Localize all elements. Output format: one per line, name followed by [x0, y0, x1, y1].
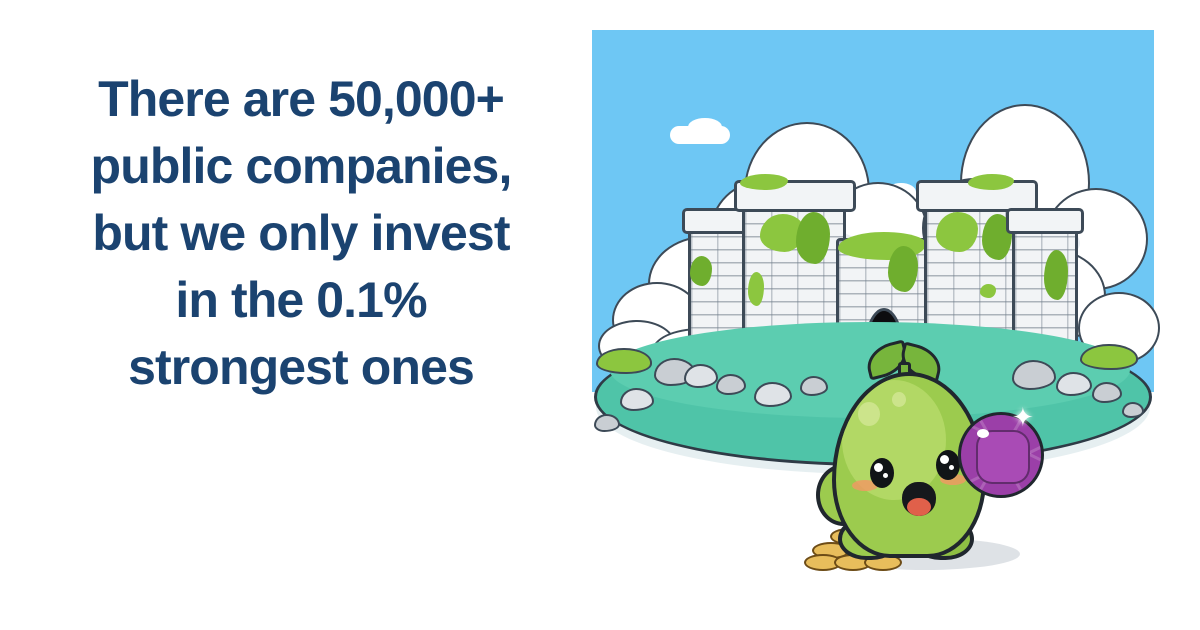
body-spot-2 [892, 392, 906, 407]
rock-11 [1122, 402, 1144, 418]
headline-line-5: strongest ones [46, 334, 556, 401]
moss-patch-far-right [1044, 250, 1068, 300]
rock-2 [684, 364, 718, 388]
eye-left [870, 458, 894, 488]
island-moss-right [1080, 344, 1138, 370]
moss-drip-left-c [748, 272, 764, 306]
purple-gem: ✦ [958, 412, 1038, 492]
moss-drip-left-b [796, 212, 830, 264]
moss-speck-right [980, 284, 996, 298]
island-moss-left [596, 348, 652, 374]
mascot-mouth [902, 482, 936, 516]
rock-6 [620, 388, 654, 411]
moss-drip-right-a [936, 212, 978, 252]
cloud-small-mid [688, 118, 722, 136]
gem-sparkle-icon: ✦ [1012, 404, 1034, 430]
rock-10 [594, 414, 620, 432]
green-blob-mascot: ✦ [808, 340, 1028, 590]
castle-illustration: ✦ [592, 30, 1154, 605]
rock-8 [1056, 372, 1092, 396]
gem-core [976, 430, 1030, 484]
headline-line-2: public companies, [46, 133, 556, 200]
eye-highlight-small [883, 473, 888, 478]
moss-crown-left [740, 174, 788, 190]
rock-3 [716, 374, 746, 395]
headline-line-1: There are 50,000+ [46, 66, 556, 133]
eye-right [936, 450, 960, 480]
rock-4 [754, 382, 792, 407]
headline: There are 50,000+ public companies, but … [46, 66, 556, 401]
headline-line-3: but we only invest [46, 200, 556, 267]
eye-highlight [874, 463, 883, 472]
moss-crown-right [968, 174, 1014, 190]
moss-wall-drip [888, 246, 918, 292]
castle-crenel-far-right [1006, 208, 1084, 234]
moss-patch-far-left [690, 256, 712, 286]
rock-9 [1092, 382, 1122, 403]
mascot-tongue [907, 498, 931, 516]
headline-line-4: in the 0.1% [46, 267, 556, 334]
promo-graphic-canvas: There are 50,000+ public companies, but … [0, 0, 1200, 630]
body-spot-1 [858, 402, 880, 426]
gem-highlight [977, 429, 989, 438]
eye-highlight-small [949, 465, 954, 470]
eye-highlight [940, 455, 949, 464]
